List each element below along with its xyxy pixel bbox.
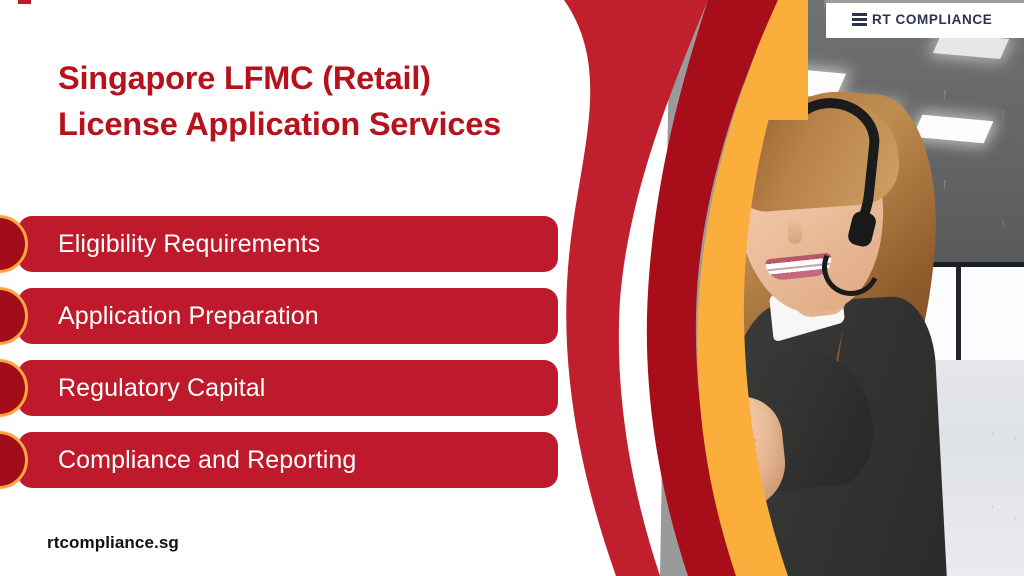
page-title: Singapore LFMC (Retail) License Applicat… [58, 55, 638, 147]
list-item[interactable]: Compliance and Reporting [0, 432, 560, 488]
feature-list: Eligibility Requirements Application Pre… [0, 216, 560, 504]
headline-line-1: Singapore LFMC (Retail) [58, 55, 638, 101]
list-item[interactable]: Eligibility Requirements [0, 216, 560, 272]
list-item-label: Regulatory Capital [58, 374, 265, 403]
brand-logo[interactable]: RT COMPLIANCE [826, 0, 1024, 38]
list-item-bar[interactable]: Eligibility Requirements [18, 216, 558, 272]
list-item-bar[interactable]: Regulatory Capital [18, 360, 558, 416]
list-item[interactable]: Application Preparation [0, 288, 560, 344]
brand-logo-text: RT COMPLIANCE [872, 12, 992, 27]
stacked-bars-icon [852, 13, 867, 26]
list-item-label: Application Preparation [58, 302, 319, 331]
promo-banner: RT COMPLIANCE Singapore LFMC (Retail) Li… [0, 0, 1024, 576]
list-item-bar[interactable]: Compliance and Reporting [18, 432, 558, 488]
list-item-label: Compliance and Reporting [58, 446, 356, 475]
website-url[interactable]: rtcompliance.sg [47, 533, 179, 553]
list-item-label: Eligibility Requirements [58, 230, 320, 259]
list-item-bar[interactable]: Application Preparation [18, 288, 558, 344]
headline-line-2: License Application Services [58, 101, 638, 147]
list-item[interactable]: Regulatory Capital [0, 360, 560, 416]
logo-red-accent [18, 0, 31, 4]
